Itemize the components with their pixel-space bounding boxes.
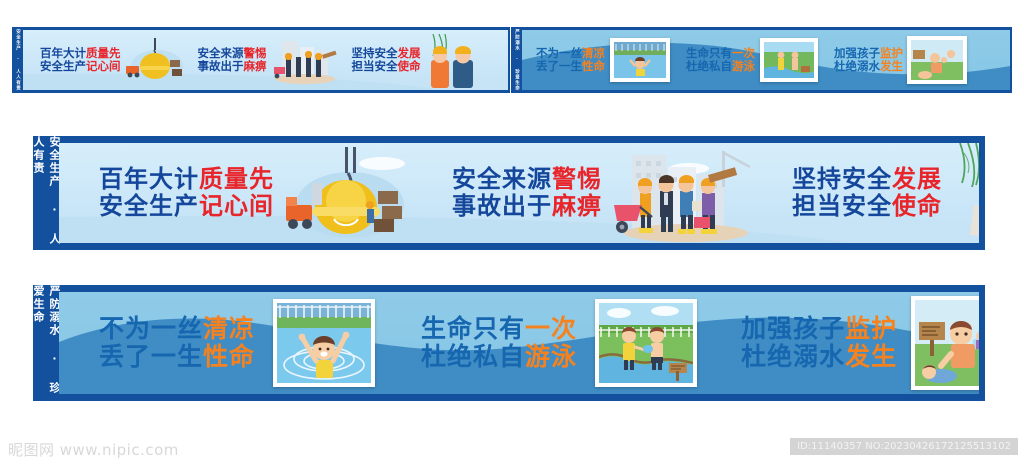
banner1-slogan-1: 百年大计质量先 安全生产记心间 — [99, 166, 274, 220]
t2s3-l2a: 杜绝溺水 — [834, 59, 880, 73]
thumb2-slogan-2: 生命只有一次 杜绝私自游泳 — [686, 47, 755, 73]
b1s2-l2b: 麻痹 — [552, 192, 602, 220]
b2s2-l2a: 杜绝私自 — [421, 342, 525, 371]
b1s3-l1b: 发展 — [892, 165, 942, 193]
footer-bar: 昵图网 www.nipic.com ID:11140357 NO:2023042… — [0, 430, 1024, 470]
b1s1-l1a: 百年大计 — [99, 165, 199, 193]
thumb1-slogan-1: 百年大计质量先 安全生产记心间 — [40, 47, 121, 73]
b2s2-l1a: 生命只有 — [421, 314, 525, 343]
banner1-side-title: 安全生产 · 人人有责 — [33, 136, 59, 250]
banner1-art-hardhat — [282, 145, 410, 241]
t1s2-l2a: 事故出于 — [198, 59, 244, 73]
thumb1-slogan-3: 坚持安全发展 担当安全使命 — [352, 47, 421, 73]
b1s1-l2a: 安全生产 — [99, 192, 199, 220]
banner2-inner: 不为一丝清凉 丢了一生性命 — [59, 292, 979, 394]
banner1-art-two-workers — [942, 143, 979, 243]
thumb2-photo-2 — [760, 38, 818, 82]
t2s1-l2a: 丢了一生 — [536, 59, 582, 73]
b2s2-l2b: 游泳 — [525, 342, 577, 371]
thumb1-art-3 — [423, 34, 481, 90]
thumb1-art-2 — [270, 35, 340, 85]
banner1-inner: 百年大计质量先 安全生产记心间 — [59, 143, 979, 243]
thumb2-photo-1 — [610, 38, 670, 82]
main-banner-safety-production[interactable]: 安全生产 · 人人有责 百年大计质量先 安全生产记心间 — [33, 136, 985, 250]
b2s3-l1a: 加强孩子 — [741, 314, 845, 343]
banner1-slogan-3: 坚持安全发展 担当安全使命 — [792, 166, 942, 220]
image-id-label: ID:11140357 NO:20230426172125513102 — [790, 438, 1018, 455]
banner2-slogan-1: 不为一丝清凉 丢了一生性命 — [99, 315, 255, 371]
thumb2-slogan-1: 不为一丝清凉 丢了一生性命 — [536, 47, 605, 73]
banner2-photo-river-boys — [595, 299, 697, 387]
b1s2-l2a: 事故出于 — [452, 192, 552, 220]
thumb2-photo-3 — [907, 36, 967, 84]
thumb1-slogan-2: 安全来源警惕 事故出于麻痹 — [198, 47, 267, 73]
b1s1-l1b: 质量先 — [199, 165, 274, 193]
b1s2-l1b: 警惕 — [552, 165, 602, 193]
banner1-art-workers — [612, 143, 762, 243]
b1s3-l2b: 使命 — [892, 192, 942, 220]
thumbnail-banner-2[interactable]: 严防溺水 · 珍爱生命 不为一丝清凉 丢了一生性命 — [511, 27, 1012, 93]
thumb1-inner: 百年大计质量先 安全生产记心间 安全来源警惕 事故出于麻痹 — [23, 30, 508, 90]
t1s1-l2a: 安全生产 — [40, 59, 86, 73]
thumb2-inner: 不为一丝清凉 丢了一生性命 — [522, 30, 1010, 90]
t2s1-l2b: 性命 — [582, 59, 605, 73]
b2s1-l2a: 丢了一生 — [99, 342, 203, 371]
banner1-slogan-2: 安全来源警惕 事故出于麻痹 — [452, 166, 602, 220]
b1s2-l1a: 安全来源 — [452, 165, 552, 193]
t2s2-l2a: 杜绝私自 — [686, 59, 732, 73]
b1s3-l2a: 担当安全 — [792, 192, 892, 220]
b2s1-l1b: 清凉 — [203, 314, 255, 343]
t1s3-l2a: 担当安全 — [352, 59, 398, 73]
thumb2-side-title: 严防溺水 · 珍爱生命 — [511, 27, 522, 93]
main-banner-drowning-prevention[interactable]: 严防溺水 · 珍爱生命 不为一丝清凉 丢了一生性命 — [33, 285, 985, 401]
t1s3-l2b: 使命 — [398, 59, 421, 73]
thumbnail-banner-1[interactable]: 安全生产 · 人人有责 百年大计质量先 安全生产记心间 — [12, 27, 510, 93]
site-watermark: 昵图网 www.nipic.com — [8, 439, 179, 460]
b2s3-l1b: 监护 — [845, 314, 897, 343]
banner2-photo-drowning-child — [273, 299, 375, 387]
b1s3-l1a: 坚持安全 — [792, 165, 892, 193]
b1s1-l2b: 记心间 — [199, 192, 274, 220]
thumbnail-row: 安全生产 · 人人有责 百年大计质量先 安全生产记心间 — [0, 0, 1024, 110]
t2s2-l2b: 游泳 — [732, 59, 755, 73]
b2s2-l1b: 一次 — [525, 314, 577, 343]
thumb2-slogan-3: 加强孩子监护 杜绝溺水发生 — [834, 47, 903, 73]
thumb1-art-1 — [124, 36, 186, 84]
b2s3-l2a: 杜绝溺水 — [741, 342, 845, 371]
t1s2-l2b: 麻痹 — [244, 59, 267, 73]
banner2-side-title: 严防溺水 · 珍爱生命 — [33, 285, 59, 401]
b2s1-l2b: 性命 — [203, 342, 255, 371]
b2s3-l2b: 发生 — [845, 342, 897, 371]
banner2-slogan-2: 生命只有一次 杜绝私自游泳 — [421, 315, 577, 371]
thumb1-side-title: 安全生产 · 人人有责 — [12, 27, 23, 93]
banner2-slogan-3: 加强孩子监护 杜绝溺水发生 — [741, 315, 897, 371]
banner2-photo-rescue — [911, 296, 979, 390]
b2s1-l1a: 不为一丝 — [99, 314, 203, 343]
t1s1-l2b: 记心间 — [86, 59, 121, 73]
t2s3-l2b: 发生 — [880, 59, 903, 73]
